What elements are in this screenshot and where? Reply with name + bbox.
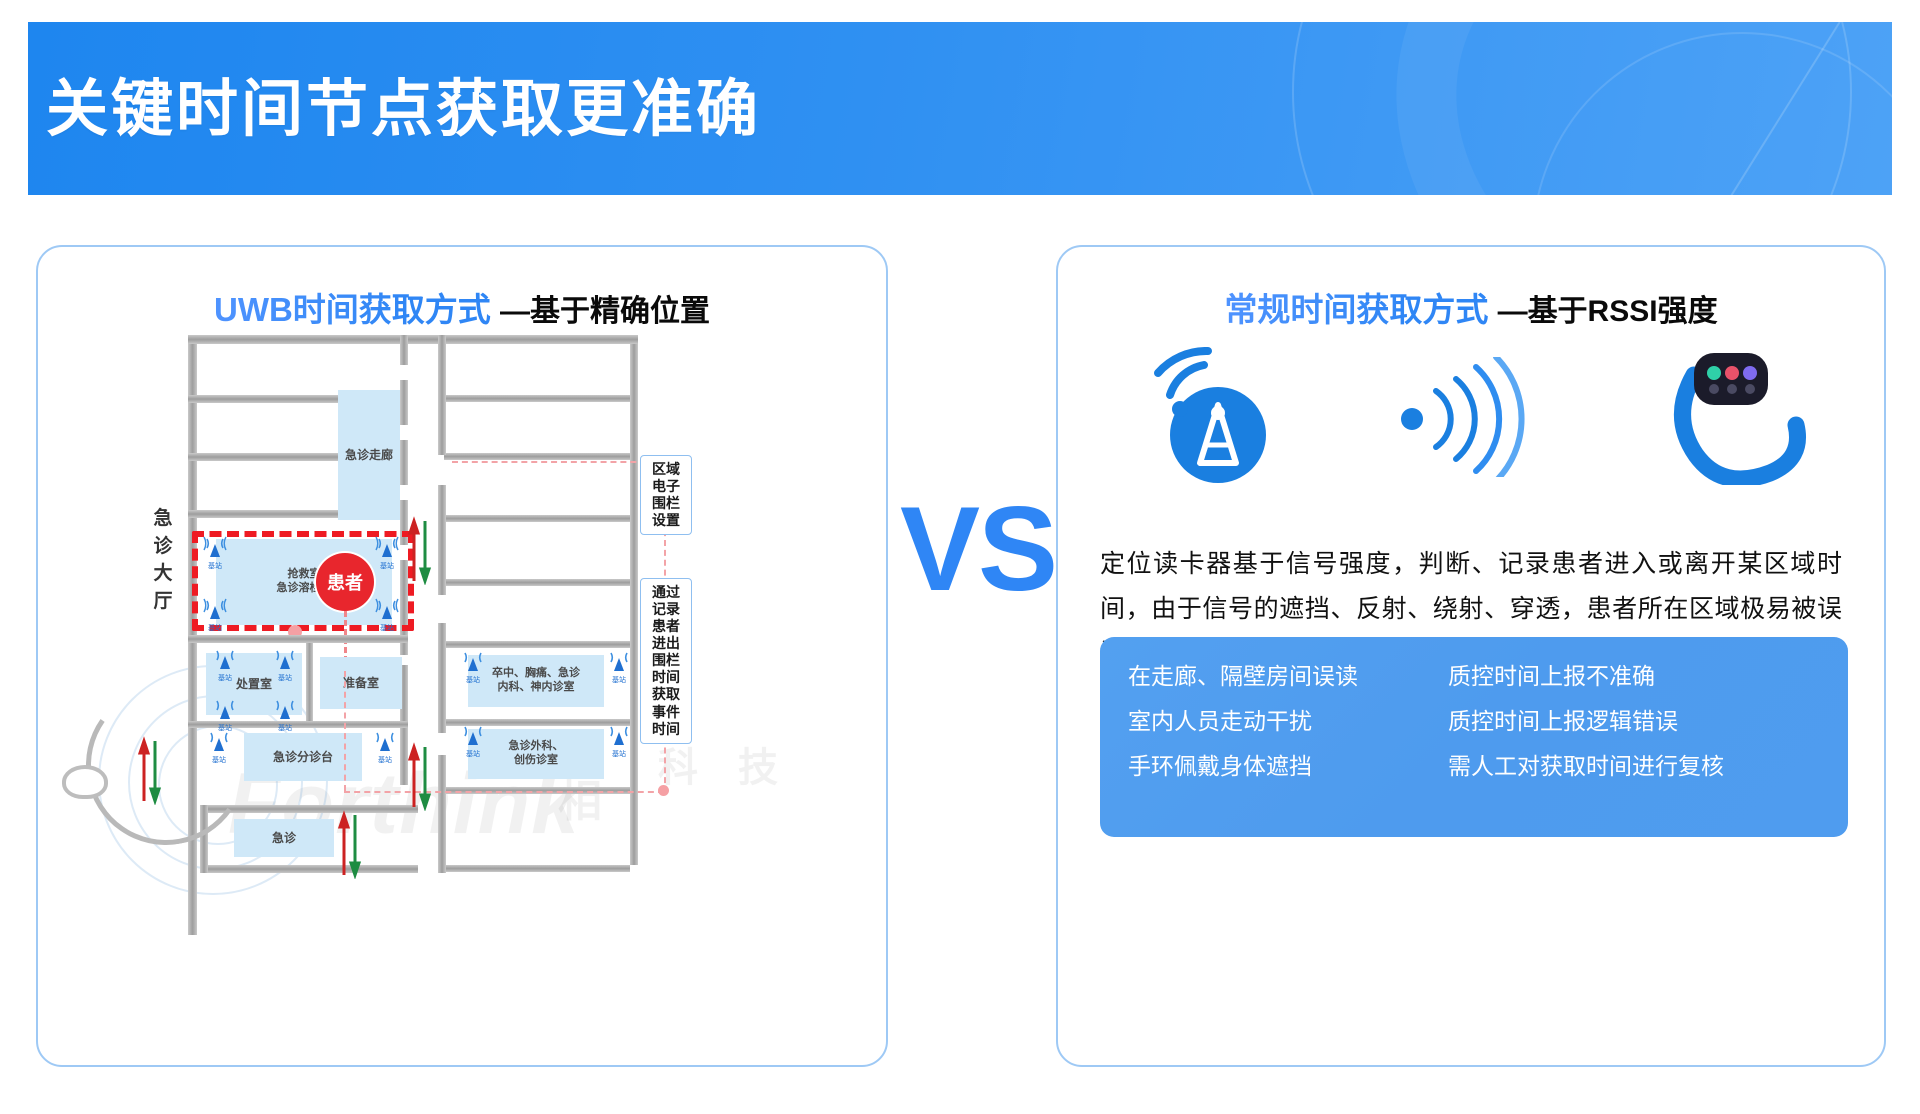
flow-arrows-4 [336, 809, 362, 879]
beacon-caption: 基站 [370, 755, 400, 765]
issue-item: 手环佩戴身体遮挡 [1128, 751, 1448, 782]
issues-panel: 在走廊、隔壁房间误读 质控时间上报不准确 室内人员走动干扰 质控时间上报逻辑错误… [1100, 637, 1848, 837]
beacon-caption: 基站 [604, 749, 634, 759]
wall-right-outer-2 [630, 565, 638, 865]
room-preparation-label: 准备室 [343, 676, 379, 691]
flow-arrows-2 [406, 741, 432, 811]
beacon-station-4: 基站 [372, 597, 402, 633]
callout-fence-setting: 区域 电子 围栏 设置 [640, 455, 692, 535]
antenna-tower-icon [1118, 347, 1298, 492]
watermark-cn-3: 技 [738, 735, 778, 793]
wall-r-vert-2 [438, 485, 446, 595]
up-down-arrow-icon [406, 515, 432, 585]
wall-div-5 [306, 643, 313, 721]
route-path-h1 [344, 791, 664, 793]
room-corridor-label: 急诊走廊 [345, 448, 393, 463]
wall-mid-2 [400, 380, 408, 425]
issue-item: 在走廊、隔壁房间误读 [1128, 661, 1448, 692]
rssi-icons-row [1058, 347, 1884, 497]
beacon-caption: 基站 [372, 561, 402, 571]
beacon-station-5: 基站 [210, 647, 240, 683]
beacon-icon [373, 535, 401, 559]
route-path-v1 [344, 671, 346, 791]
wall-mid-3 [400, 440, 408, 485]
wall-r-div-5 [444, 641, 630, 648]
beacon-icon [201, 535, 229, 559]
up-down-arrow-icon [406, 741, 432, 811]
room-clinic-stroke-label-1: 卒中、胸痛、急诊 [492, 667, 580, 681]
beacon-caption: 基站 [458, 749, 488, 759]
vs-separator: VS [900, 500, 1040, 598]
right-panel-title-sub: —基于RSSI强度 [1498, 295, 1718, 328]
wall-bottom-bot [200, 865, 418, 873]
smart-wristband-icon [1658, 345, 1808, 490]
wall-mid-1 [400, 335, 408, 365]
floorplan-diagram: Forthink 相 科 技 [38, 335, 886, 1035]
callout-event-line-2: 记录 [644, 601, 688, 618]
wall-r-div-1 [444, 395, 630, 402]
room-treatment-label: 处置室 [236, 677, 272, 692]
beacon-caption: 基站 [458, 675, 488, 685]
wall-r-vert-4 [438, 755, 446, 873]
beacon-icon [371, 729, 399, 753]
beacon-icon [373, 597, 401, 621]
beacon-caption: 基站 [200, 623, 230, 633]
callout-event-line-3: 患者 [644, 618, 688, 635]
left-panel-uwb: UWB时间获取方式 —基于精确位置 Forthink 相 科 技 [36, 245, 888, 1067]
beacon-caption: 基站 [372, 623, 402, 633]
beacon-caption: 基站 [210, 673, 240, 683]
wall-r-div-4 [444, 579, 630, 586]
flow-arrows-3 [136, 735, 162, 805]
beacon-station-6: 基站 [270, 647, 300, 683]
beacon-station-11: 基站 [458, 649, 488, 685]
callout-fence-line-2: 电子 [644, 478, 688, 495]
up-down-arrow-icon [336, 809, 362, 879]
beacon-station-2: 基站 [372, 535, 402, 571]
beacon-caption: 基站 [604, 675, 634, 685]
right-panel-rssi: 常规时间获取方式 —基于RSSI强度 [1056, 245, 1886, 1067]
beacon-station-13: 基站 [458, 723, 488, 759]
room-clinic-surgery-label-2: 创伤诊室 [509, 754, 564, 768]
beacon-icon [271, 647, 299, 671]
entrance-door [62, 765, 108, 799]
hall-label-text: 急诊大厅 [153, 508, 172, 612]
beacon-icon [211, 647, 239, 671]
page-title: 关键时间节点获取更准确 [46, 58, 761, 148]
callout-fence-line-4: 设置 [644, 512, 688, 529]
wall-left-1 [188, 335, 197, 435]
callout-event-time: 通过 记录 患者 进出 围栏 时间 获取 事件 时间 [640, 578, 692, 744]
callout-event-line-1: 通过 [644, 584, 688, 601]
slide-root: 关键时间节点获取更准确 VS UWB时间获取方式 —基于精确位置 Forthin… [0, 0, 1920, 1114]
flow-arrows-1 [406, 515, 432, 585]
route-endpoint-dot [658, 785, 669, 796]
room-clinic-stroke: 卒中、胸痛、急诊 内科、神内诊室 [468, 655, 604, 707]
left-panel-title-highlight: UWB时间获取方式 [214, 291, 491, 328]
wall-r-div-2 [444, 453, 630, 460]
issue-item: 需人工对获取时间进行复核 [1448, 751, 1820, 782]
callout-event-line-5: 围栏 [644, 652, 688, 669]
beacon-icon [605, 649, 633, 673]
beacon-station-10: 基站 [370, 729, 400, 765]
wall-r-vert-1 [438, 335, 446, 455]
beacon-caption: 基站 [200, 561, 230, 571]
room-corridor: 急诊走廊 [338, 390, 400, 520]
beacon-station-1: 基站 [200, 535, 230, 571]
patient-marker[interactable]: 患者 [316, 553, 374, 611]
callout-event-line-6: 时间 [644, 669, 688, 686]
beacon-caption: 基站 [270, 673, 300, 683]
issue-item: 质控时间上报不准确 [1448, 661, 1820, 692]
left-panel-title-sub: —基于精确位置 [500, 295, 710, 328]
beacon-icon [271, 697, 299, 721]
room-emergency: 急诊 [234, 819, 334, 857]
callout-event-line-4: 进出 [644, 635, 688, 652]
beacon-icon [459, 723, 487, 747]
wall-r-vert-3 [438, 623, 446, 733]
beacon-icon [201, 597, 229, 621]
wall-div-7 [304, 721, 408, 728]
wall-right-outer-1 [630, 335, 638, 565]
room-emergency-label: 急诊 [272, 831, 296, 846]
beacon-icon [459, 649, 487, 673]
rssi-signal-waves-icon [1388, 357, 1578, 482]
callout-event-line-7: 获取 [644, 686, 688, 703]
header-banner: 关键时间节点获取更准确 [28, 22, 1892, 195]
beacon-station-3: 基站 [200, 597, 230, 633]
room-clinic-surgery-label-1: 急诊外科、 [509, 740, 564, 754]
route-path-h2 [452, 461, 666, 463]
beacon-station-12: 基站 [604, 649, 634, 685]
room-clinic-stroke-label-2: 内科、神内诊室 [492, 681, 580, 695]
room-clinic-surgery: 急诊外科、 创伤诊室 [468, 729, 604, 779]
beacon-station-8: 基站 [270, 697, 300, 733]
right-panel-title-highlight: 常规时间获取方式 [1224, 291, 1488, 328]
beacon-caption: 基站 [270, 723, 300, 733]
room-preparation: 准备室 [320, 657, 402, 709]
room-triage-label: 急诊分诊台 [273, 750, 333, 765]
wall-r-div-8 [444, 865, 630, 872]
issue-item: 质控时间上报逻辑错误 [1448, 706, 1820, 737]
beacon-station-14: 基站 [604, 723, 634, 759]
callout-fence-line-1: 区域 [644, 461, 688, 478]
right-panel-title: 常规时间获取方式 —基于RSSI强度 [1058, 283, 1884, 331]
left-panel-title: UWB时间获取方式 —基于精确位置 [38, 283, 886, 331]
up-down-arrow-icon [136, 735, 162, 805]
beacon-icon [605, 723, 633, 747]
callout-fence-line-3: 围栏 [644, 495, 688, 512]
callout-event-line-9: 时间 [644, 721, 688, 738]
hall-label-emergency-lobby: 急诊大厅 [146, 505, 180, 615]
wall-r-div-3 [444, 515, 630, 522]
wall-div-4 [188, 635, 408, 643]
issue-item: 室内人员走动干扰 [1128, 706, 1448, 737]
callout-event-line-8: 事件 [644, 704, 688, 721]
